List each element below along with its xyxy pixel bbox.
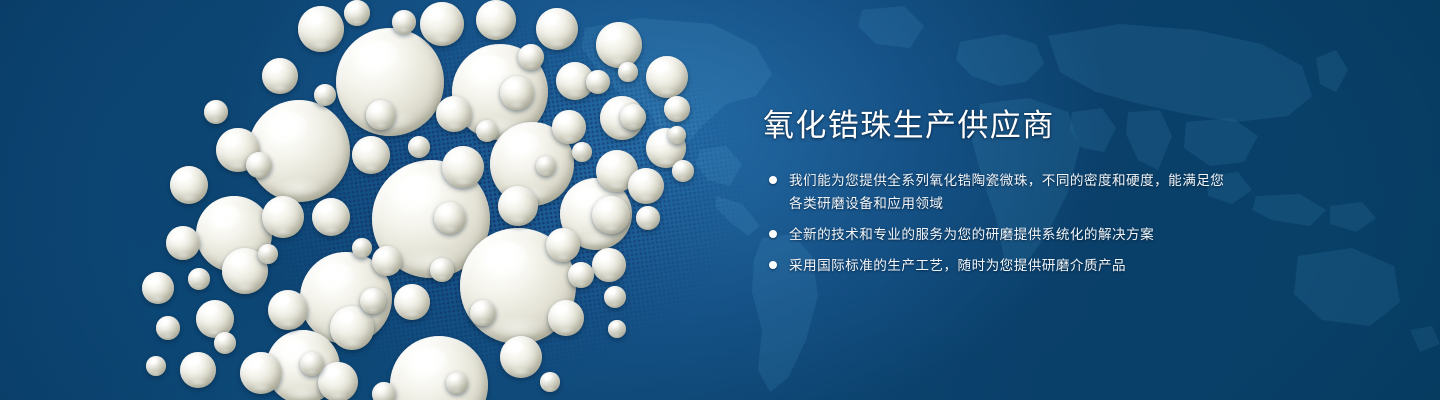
bead: [188, 268, 210, 290]
bead: [336, 28, 444, 136]
bead: [390, 336, 488, 400]
page-title: 氧化锆珠生产供应商: [763, 108, 1233, 145]
bead: [300, 252, 392, 344]
bullet-dot-icon: [769, 176, 777, 184]
bead: [668, 126, 686, 144]
bead: [204, 100, 228, 124]
bead: [568, 262, 594, 288]
bead: [470, 300, 496, 326]
bead: [142, 272, 174, 304]
bead: [394, 284, 430, 320]
halftone-dot-pattern: [64, 0, 816, 400]
bead: [214, 332, 236, 354]
bead: [434, 202, 466, 234]
bead: [330, 306, 374, 350]
bead: [156, 316, 180, 340]
bead: [436, 96, 472, 132]
bead: [298, 6, 344, 52]
bead: [600, 96, 644, 140]
bead: [536, 156, 556, 176]
bead: [476, 120, 498, 142]
bead: [476, 0, 516, 40]
bead: [498, 186, 538, 226]
zirconia-bead-cluster: [0, 0, 760, 400]
bead: [170, 166, 208, 204]
bead: [366, 100, 396, 130]
hero-banner: 氧化锆珠生产供应商 我们能为您提供全系列氧化锆陶瓷微珠，不同的密度和硬度，能满足…: [0, 0, 1440, 400]
bead: [548, 300, 584, 336]
bead: [258, 244, 278, 264]
bead: [500, 76, 534, 110]
bead: [352, 238, 372, 258]
bead: [318, 362, 358, 400]
list-item: 全新的技术和专业的服务为您的研磨提供系统化的解决方案: [763, 223, 1233, 246]
bead: [636, 206, 660, 230]
bead: [646, 128, 686, 168]
bead: [628, 168, 664, 204]
bead: [546, 228, 580, 262]
bead: [620, 104, 646, 130]
bead: [664, 96, 690, 122]
bead: [240, 352, 282, 394]
bead: [556, 62, 594, 100]
bead: [146, 356, 166, 376]
bead: [460, 228, 576, 344]
list-item: 采用国际标准的生产工艺，随时为您提供研磨介质产品: [763, 254, 1233, 277]
bead: [314, 84, 336, 106]
bead: [446, 372, 468, 394]
bead: [360, 288, 386, 314]
bead: [262, 196, 304, 238]
bead: [352, 136, 390, 174]
bead: [300, 352, 324, 376]
bead: [392, 10, 416, 34]
bead: [592, 248, 626, 282]
bead: [408, 136, 430, 158]
bead: [196, 196, 272, 272]
bead: [560, 178, 632, 250]
bead: [672, 160, 694, 182]
bead: [430, 258, 454, 282]
bead: [592, 196, 630, 234]
bead: [452, 44, 548, 140]
list-item: 我们能为您提供全系列氧化锆陶瓷微珠，不同的密度和硬度，能满足您各类研磨设备和应用…: [763, 169, 1233, 215]
bead: [196, 300, 234, 338]
bead: [166, 226, 200, 260]
bead: [540, 372, 560, 392]
list-item-label: 采用国际标准的生产工艺，随时为您提供研磨介质产品: [789, 254, 1233, 277]
bullet-dot-icon: [769, 230, 777, 238]
bullet-dot-icon: [769, 261, 777, 269]
bead: [518, 44, 544, 70]
bead: [442, 146, 484, 188]
banner-text-block: 氧化锆珠生产供应商 我们能为您提供全系列氧化锆陶瓷微珠，不同的密度和硬度，能满足…: [763, 108, 1233, 277]
bead: [262, 58, 298, 94]
bead: [552, 110, 586, 144]
list-item-label: 全新的技术和专业的服务为您的研磨提供系统化的解决方案: [789, 223, 1233, 246]
bead: [572, 142, 592, 162]
bead: [586, 70, 610, 94]
bead: [646, 56, 688, 98]
bead: [266, 330, 340, 400]
bead: [222, 248, 268, 294]
bead: [268, 290, 308, 330]
bead: [500, 336, 542, 378]
bead: [490, 122, 574, 206]
bead: [372, 382, 396, 400]
bead: [248, 100, 350, 202]
bead: [596, 22, 642, 68]
bead: [246, 152, 272, 178]
bead: [372, 246, 402, 276]
bead: [216, 128, 260, 172]
bead: [312, 198, 350, 236]
bead: [180, 352, 216, 388]
bead: [596, 150, 638, 192]
bead: [420, 2, 464, 46]
bead: [372, 160, 490, 278]
bead: [608, 320, 626, 338]
bead: [604, 286, 626, 308]
list-item-label: 我们能为您提供全系列氧化锆陶瓷微珠，不同的密度和硬度，能满足您各类研磨设备和应用…: [789, 169, 1233, 215]
bead: [536, 8, 578, 50]
feature-list: 我们能为您提供全系列氧化锆陶瓷微珠，不同的密度和硬度，能满足您各类研磨设备和应用…: [763, 169, 1233, 277]
bead: [344, 0, 370, 26]
bead: [618, 62, 638, 82]
